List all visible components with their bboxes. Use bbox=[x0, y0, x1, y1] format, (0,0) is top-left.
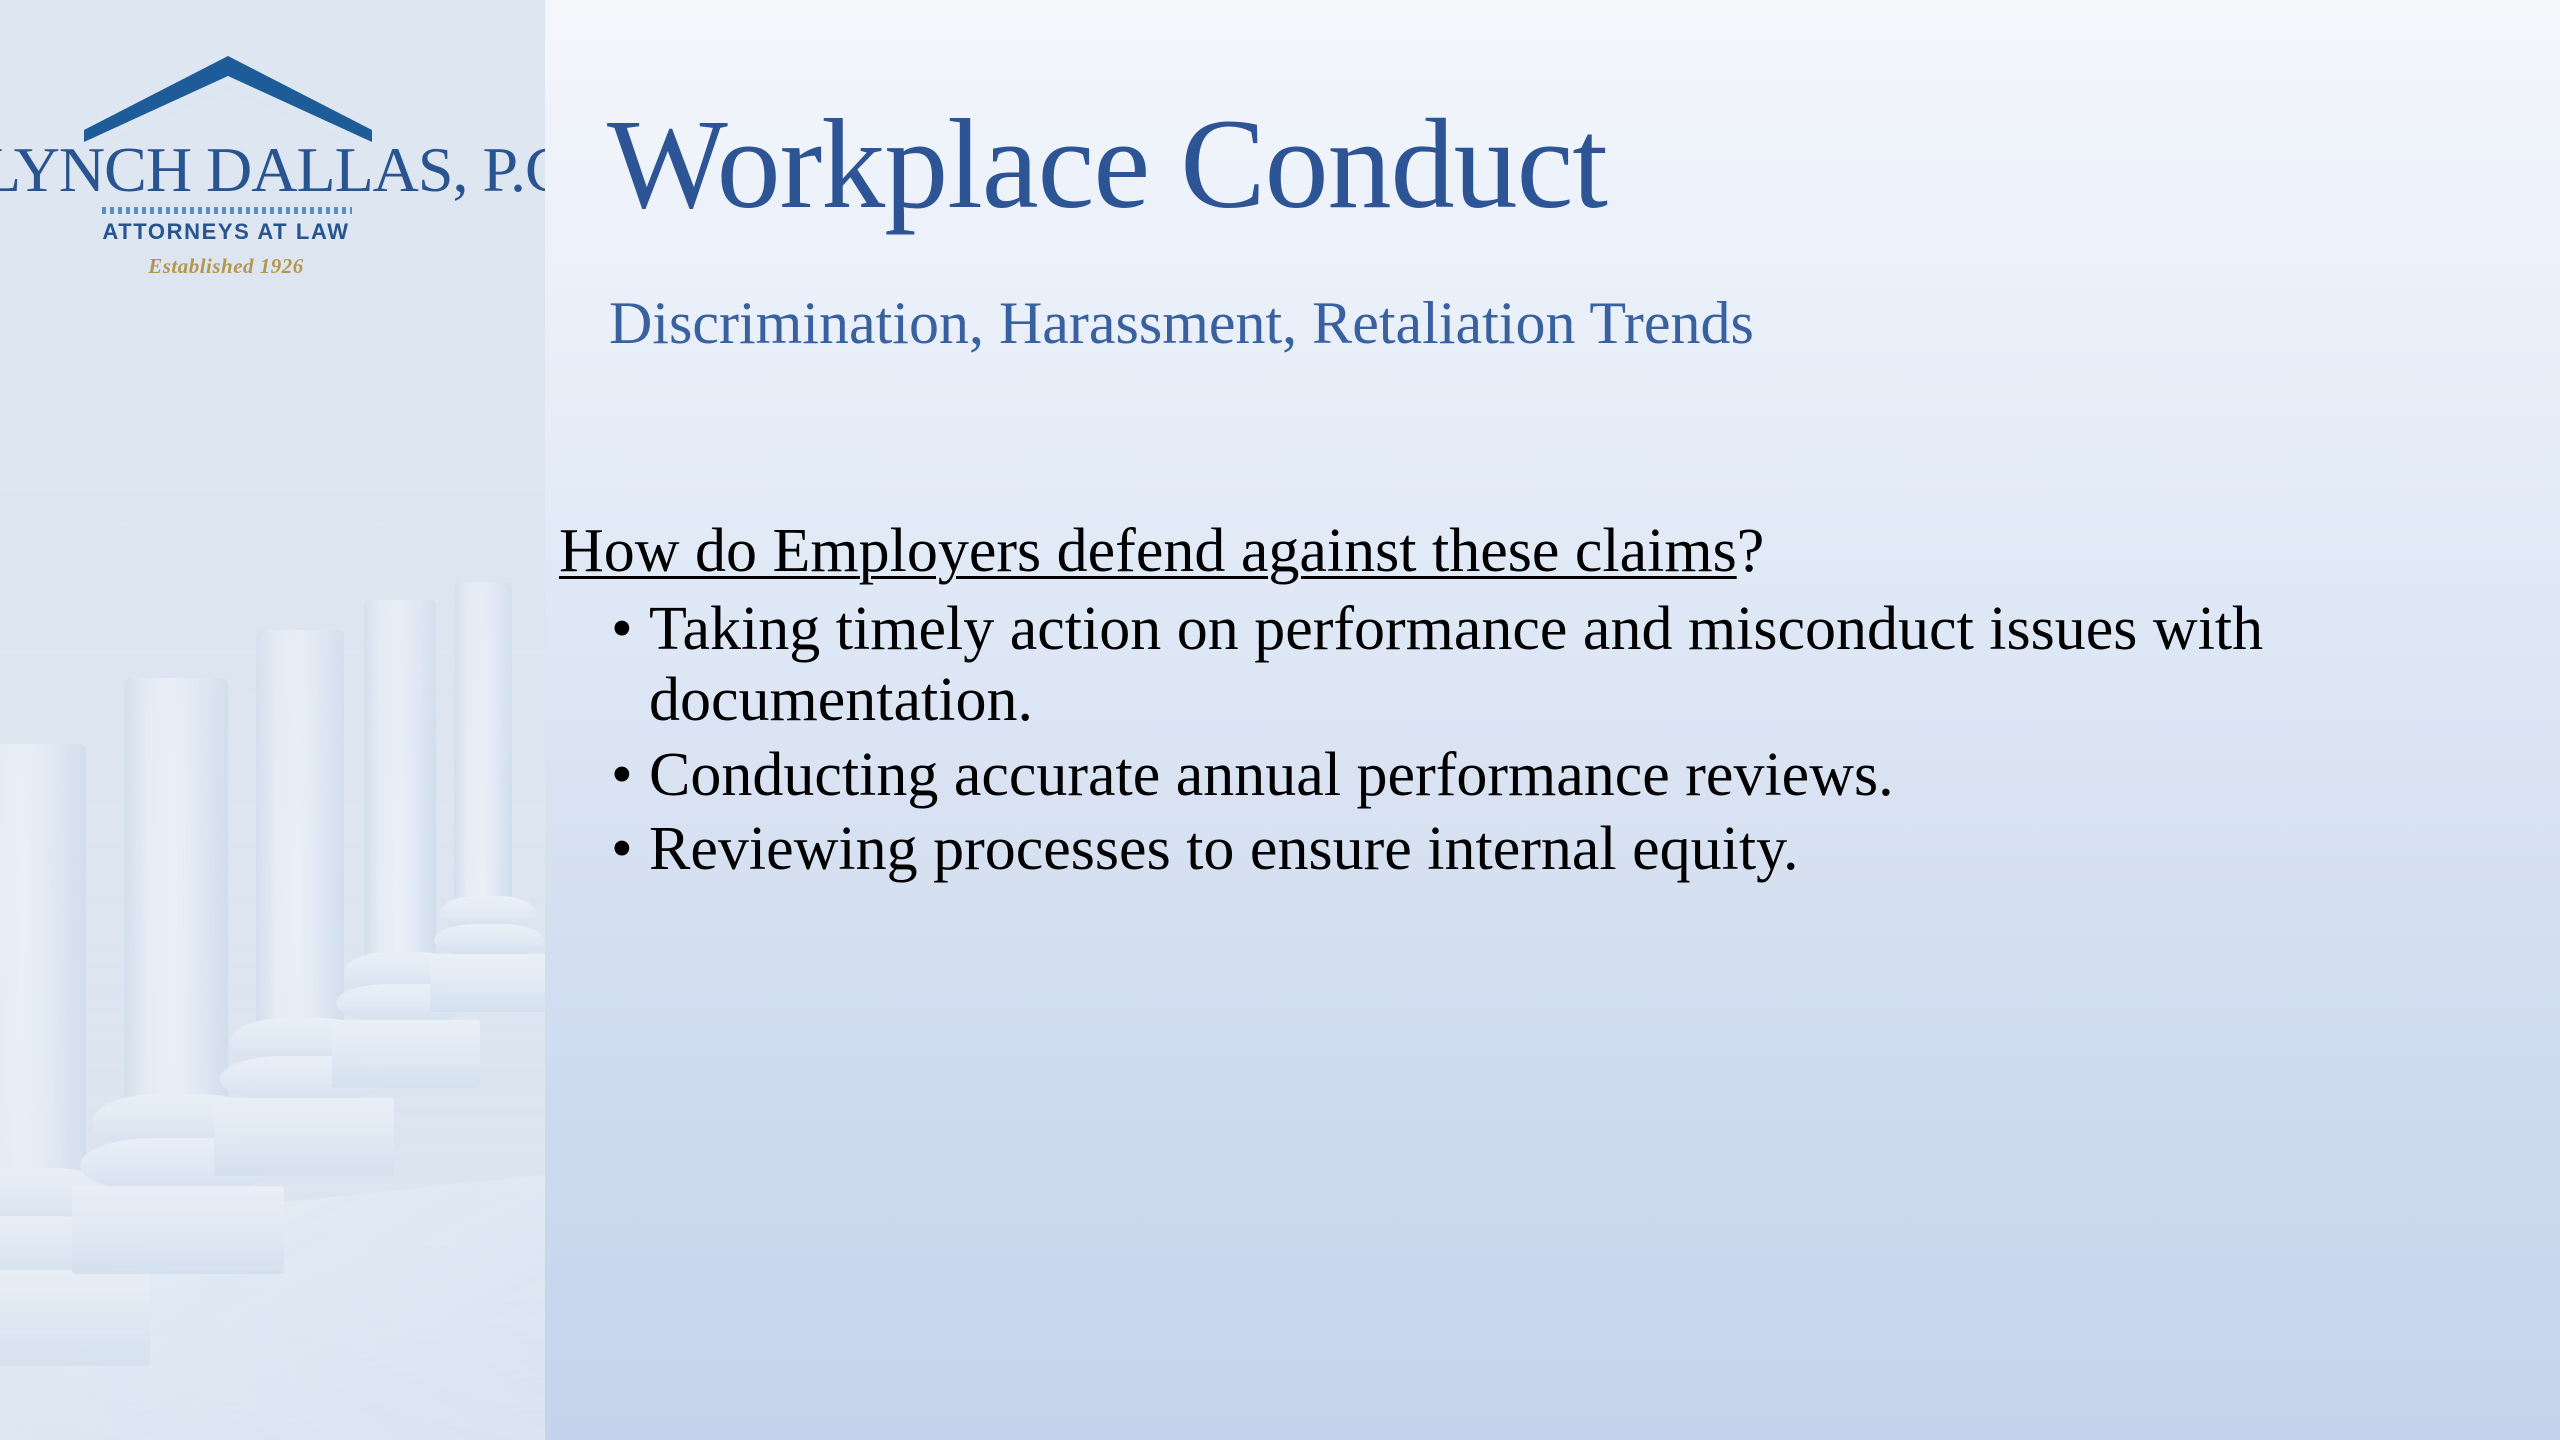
bullet-marker-icon: • bbox=[611, 740, 633, 811]
presentation-slide: LYNCH DALLAS, P.C. ATTORNEYS AT LAW Esta… bbox=[0, 0, 2560, 1440]
list-item: • Conducting accurate annual performance… bbox=[611, 740, 2520, 811]
list-item-label: Taking timely action on performance and … bbox=[649, 595, 2263, 734]
slide-subtitle: Discrimination, Harassment, Retaliation … bbox=[609, 290, 2139, 357]
list-item: • Reviewing processes to ensure internal… bbox=[611, 814, 2520, 885]
bullet-list: • Taking timely action on performance an… bbox=[545, 594, 2560, 885]
list-item: • Taking timely action on performance an… bbox=[611, 594, 2520, 735]
body-heading-question-mark: ? bbox=[1737, 517, 1765, 585]
list-item-label: Conducting accurate annual performance r… bbox=[649, 741, 1894, 809]
list-item-label: Reviewing processes to ensure internal e… bbox=[649, 815, 1799, 883]
firm-tagline: ATTORNEYS AT LAW bbox=[76, 219, 376, 245]
logo-dotted-divider bbox=[102, 207, 352, 214]
slide-sidebar: LYNCH DALLAS, P.C. ATTORNEYS AT LAW Esta… bbox=[0, 0, 545, 1440]
classical-columns-watermark bbox=[0, 430, 545, 1440]
watermark-haze-overlay bbox=[0, 430, 545, 1440]
slide-content-panel: Workplace Conduct Discrimination, Harass… bbox=[545, 0, 2560, 1440]
firm-logo: LYNCH DALLAS, P.C. ATTORNEYS AT LAW Esta… bbox=[0, 42, 542, 322]
bullet-marker-icon: • bbox=[611, 594, 633, 665]
bullet-marker-icon: • bbox=[611, 814, 633, 885]
body-heading-underlined-text: How do Employers defend against these cl… bbox=[559, 517, 1737, 585]
slide-title: Workplace Conduct bbox=[607, 100, 1607, 228]
slide-body: How do Employers defend against these cl… bbox=[545, 515, 2560, 889]
chevron-roofline-icon bbox=[78, 50, 378, 142]
firm-name: LYNCH DALLAS, P.C. bbox=[0, 138, 542, 202]
firm-established-year: Established 1926 bbox=[76, 254, 376, 279]
body-heading: How do Employers defend against these cl… bbox=[559, 515, 2560, 588]
